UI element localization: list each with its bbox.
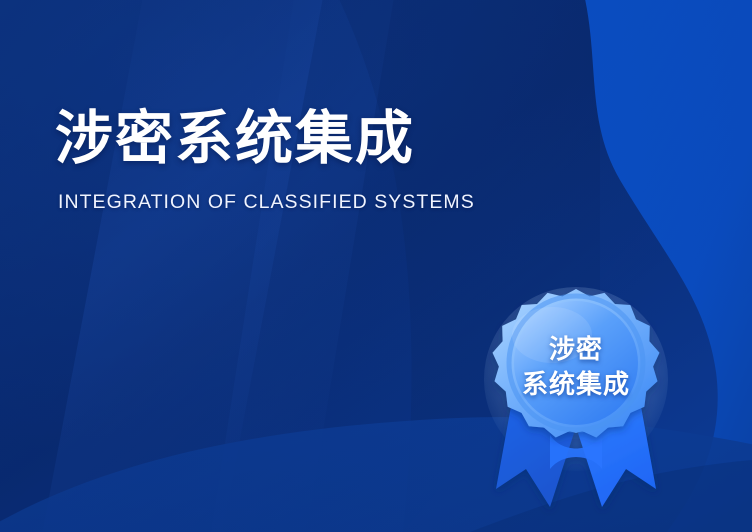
- badge-sheen: [512, 307, 592, 363]
- headline-block: 涉密系统集成 INTEGRATION OF CLASSIFIED SYSTEMS: [55, 108, 475, 214]
- page-title: 涉密系统集成: [55, 108, 475, 169]
- page-subtitle: INTEGRATION OF CLASSIFIED SYSTEMS: [58, 191, 475, 214]
- banner-root: 涉密系统集成 INTEGRATION OF CLASSIFIED SYSTEMS: [0, 0, 752, 532]
- award-rosette-icon: [478, 283, 674, 519]
- award-badge: 涉密 系统集成: [478, 283, 674, 519]
